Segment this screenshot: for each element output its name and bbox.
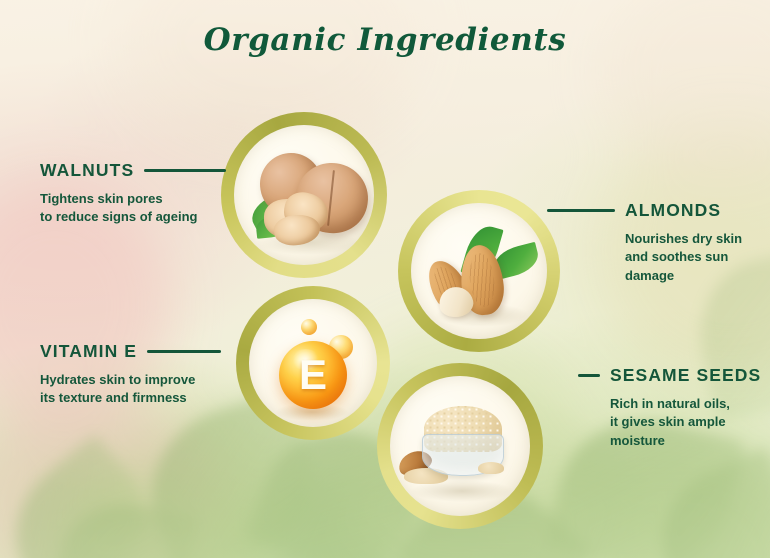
connector-line-almonds xyxy=(547,209,615,212)
ingredient-name-sesame-seeds: SESAME SEEDS xyxy=(610,365,761,386)
ingredient-image-walnuts xyxy=(221,112,387,278)
ingredient-description-vitamin-e: Hydrates skin to improve its texture and… xyxy=(40,371,221,408)
label-sesame-seeds: SESAME SEEDS Rich in natural oils, it gi… xyxy=(578,365,761,450)
ingredient-description-walnuts: Tightens skin pores to reduce signs of a… xyxy=(40,190,226,227)
vitamin-e-capsule: E xyxy=(279,341,347,409)
label-vitamin-e: VITAMIN E Hydrates skin to improve its t… xyxy=(40,341,221,408)
label-almonds: ALMONDS Nourishes dry skin and soothes s… xyxy=(547,200,742,285)
organic-ingredients-poster: Organic Ingredients xyxy=(0,0,770,558)
vitamin-e-letter: E xyxy=(279,341,347,409)
ingredient-name-vitamin-e: VITAMIN E xyxy=(40,341,137,362)
connector-line-vitamin-e xyxy=(147,350,221,353)
label-walnuts: WALNUTS Tightens skin pores to reduce si… xyxy=(40,160,226,227)
ingredient-name-almonds: ALMONDS xyxy=(625,200,721,221)
ingredient-image-almonds xyxy=(398,190,560,352)
page-title: Organic Ingredients xyxy=(0,22,770,58)
connector-line-walnuts xyxy=(144,169,226,172)
ingredient-image-vitamin-e: E xyxy=(236,286,390,440)
ingredient-description-almonds: Nourishes dry skin and soothes sun damag… xyxy=(625,230,742,285)
ingredient-name-walnuts: WALNUTS xyxy=(40,160,134,181)
ingredient-description-sesame-seeds: Rich in natural oils, it gives skin ampl… xyxy=(610,395,761,450)
ingredient-image-sesame-seeds xyxy=(377,363,543,529)
connector-line-sesame-seeds xyxy=(578,374,600,377)
